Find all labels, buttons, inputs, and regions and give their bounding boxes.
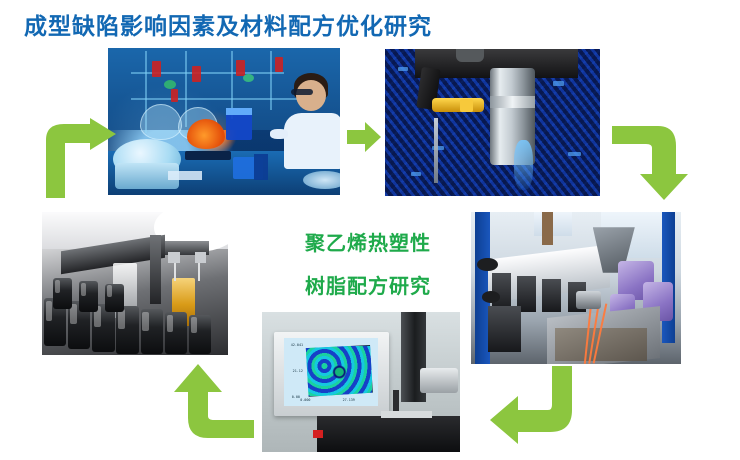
heatmap-x-min-label: 0.000 xyxy=(300,398,310,402)
surface-heatmap xyxy=(303,345,373,397)
arrow-cnc-to-extruder xyxy=(612,122,692,202)
chemistry-lab-photo xyxy=(108,48,340,195)
slide-canvas: 成型缺陷影响因素及材料配方优化研究 xyxy=(0,0,740,460)
sample-vials-photo xyxy=(42,212,228,355)
heatmap-x-max-label: 27.139 xyxy=(343,398,355,402)
arrow-metrology-to-vials xyxy=(168,362,254,442)
center-caption-line-2: 树脂配方研究 xyxy=(283,265,453,308)
extrusion-line-photo xyxy=(471,212,681,364)
page-title: 成型缺陷影响因素及材料配方优化研究 xyxy=(24,7,432,41)
arrow-lab-to-cnc xyxy=(347,120,381,154)
heatmap-y-max-label: 42.041 xyxy=(291,343,303,347)
metrology-system-photo: 42.041 21.12 0.00 0.000 27.139 xyxy=(262,312,460,452)
arrow-extruder-to-metrology xyxy=(490,366,576,444)
metrology-monitor: 42.041 21.12 0.00 0.000 27.139 xyxy=(274,332,389,416)
heatmap-y-min-label: 0.00 xyxy=(292,395,300,399)
cnc-machining-photo xyxy=(385,49,600,196)
center-caption-line-1: 聚乙烯热塑性 xyxy=(283,222,453,265)
heatmap-y-mid-label: 21.12 xyxy=(293,369,303,373)
arrow-start-to-lab xyxy=(40,118,118,198)
center-caption: 聚乙烯热塑性 树脂配方研究 xyxy=(283,222,453,308)
